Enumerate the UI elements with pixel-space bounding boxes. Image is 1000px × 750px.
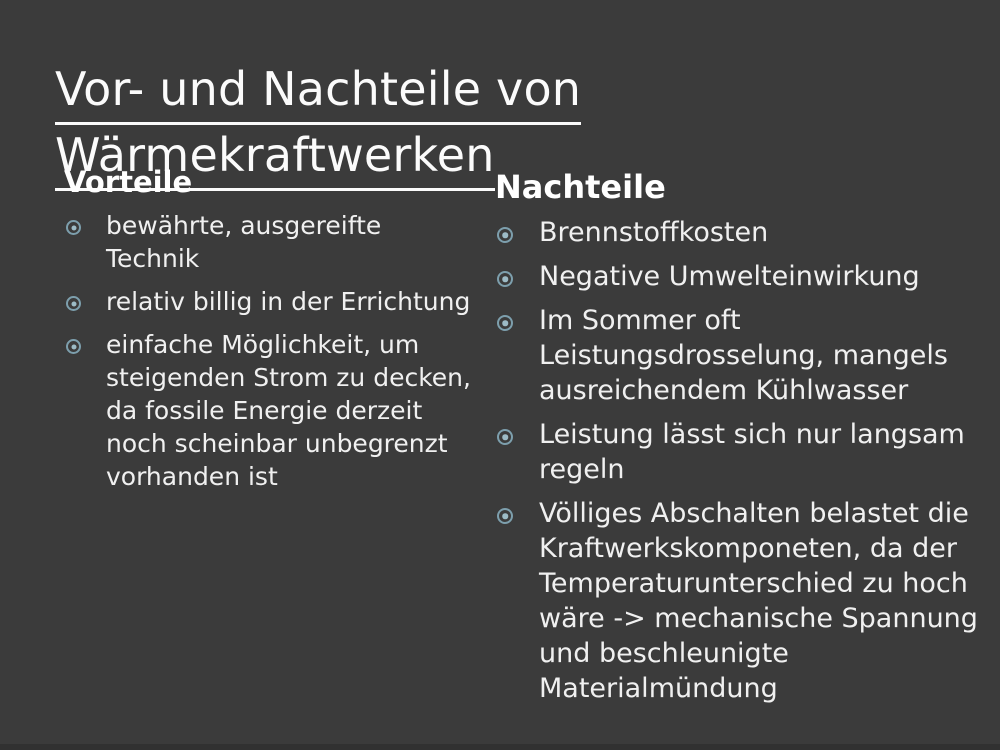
list-item: einfache Möglichkeit, um steigenden Stro… [60, 328, 477, 493]
bullet-ring-icon [66, 220, 81, 235]
advantages-heading: Vorteile [60, 165, 477, 199]
bullet-ring-icon [497, 271, 513, 287]
list-item: Völliges Abschalten belastet die Kraftwe… [491, 496, 988, 706]
disadvantages-column: Nachteile Brennstoffkosten Negative Umwe… [485, 169, 1000, 715]
advantages-list: bewährte, ausgereifte Technik relativ bi… [60, 209, 477, 493]
advantages-column: Vorteile bewährte, ausgereifte Technik r… [0, 165, 485, 503]
list-item-text: bewährte, ausgereifte Technik [106, 209, 477, 275]
bullet-ring-icon [497, 429, 513, 445]
bullet-ring-icon [66, 296, 81, 311]
list-item-text: Negative Umwelteinwirkung [539, 259, 988, 294]
list-item: bewährte, ausgereifte Technik [60, 209, 477, 275]
list-item-text: Im Sommer oft Leistungsdrosselung, mange… [539, 303, 988, 408]
list-item: Leistung lässt sich nur langsam regeln [491, 417, 988, 487]
page-title-line-1: Vor- und Nachteile von [55, 59, 835, 125]
list-item-text: Brennstoffkosten [539, 215, 988, 250]
bullet-ring-icon [497, 508, 513, 524]
list-item-text: Leistung lässt sich nur langsam regeln [539, 417, 988, 487]
slide-bottom-edge [0, 744, 1000, 750]
presentation-slide: Vor- und Nachteile von Wärmekraftwerken … [0, 0, 1000, 750]
list-item: Im Sommer oft Leistungsdrosselung, mange… [491, 303, 988, 408]
disadvantages-list: Brennstoffkosten Negative Umwelteinwirku… [491, 215, 988, 706]
list-item-text: einfache Möglichkeit, um steigenden Stro… [106, 328, 477, 493]
list-item-text: relativ billig in der Errichtung [106, 285, 477, 318]
slide-body-columns: Vorteile bewährte, ausgereifte Technik r… [0, 165, 1000, 715]
disadvantages-heading: Nachteile [491, 169, 988, 205]
list-item: Brennstoffkosten [491, 215, 988, 250]
bullet-ring-icon [66, 339, 81, 354]
bullet-ring-icon [497, 227, 513, 243]
bullet-ring-icon [497, 315, 513, 331]
list-item: relativ billig in der Errichtung [60, 285, 477, 318]
list-item: Negative Umwelteinwirkung [491, 259, 988, 294]
list-item-text: Völliges Abschalten belastet die Kraftwe… [539, 496, 988, 706]
